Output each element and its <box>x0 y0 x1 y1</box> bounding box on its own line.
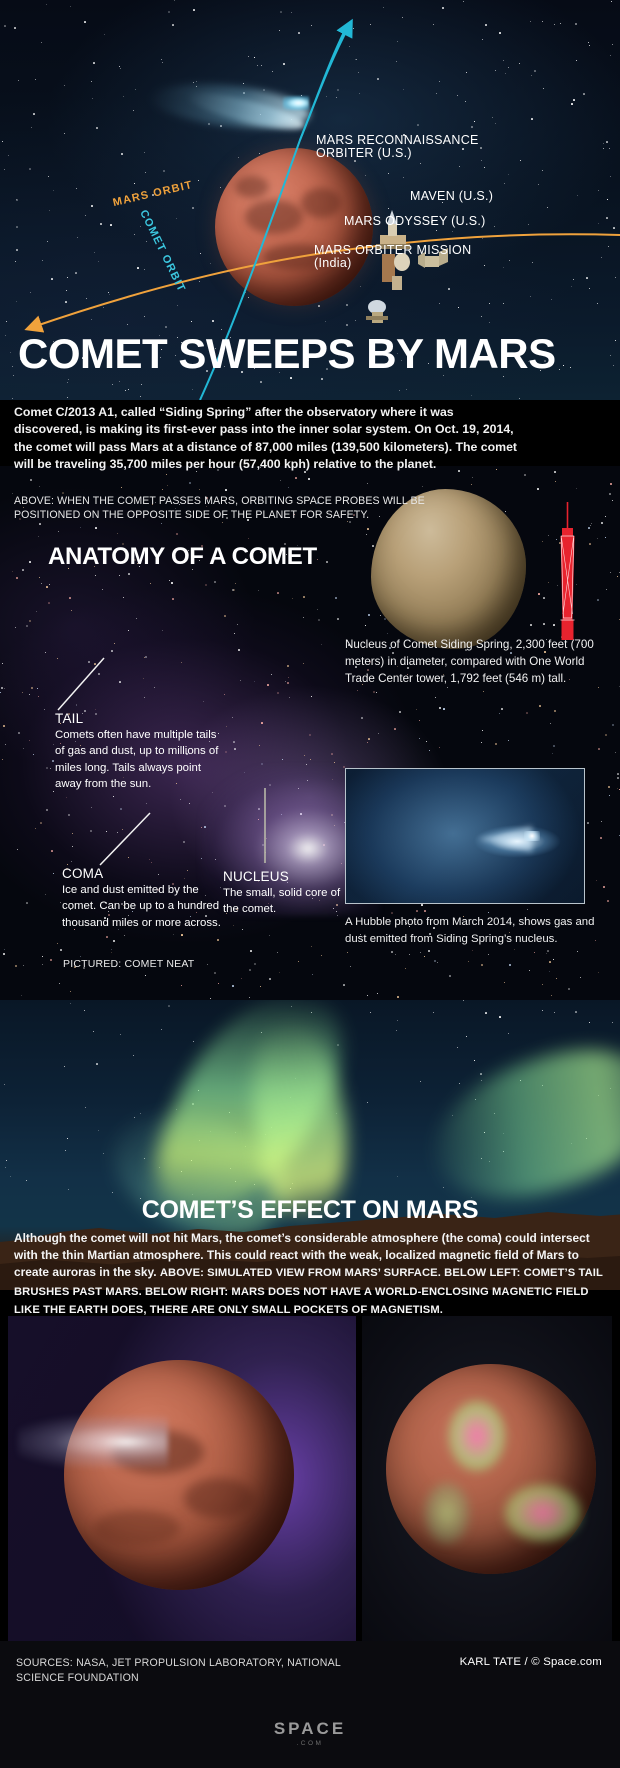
probe-label-mro: MARS RECONNAISSANCE ORBITER (U.S.) <box>316 134 479 160</box>
callout-tail-body: Comets often have multiple tails of gas … <box>55 727 220 793</box>
callout-coma-heading: COMA <box>62 866 232 881</box>
callout-nucleus: NUCLEUS The small, solid core of the com… <box>223 869 343 918</box>
probe-label-mom: MARS ORBITER MISSION (India) <box>314 244 471 270</box>
aurora-band-right <box>416 1028 620 1223</box>
probe-label-mro-line1: MARS RECONNAISSANCE <box>316 133 479 147</box>
credit-text: KARL TATE / © Space.com <box>460 1656 602 1668</box>
probe-label-maven-line1: MAVEN (U.S.) <box>410 189 493 203</box>
callout-nucleus-body: The small, solid core of the comet. <box>223 885 343 918</box>
anatomy-section: ANATOMY OF A COMET Nucleus of Comet Sidi… <box>0 466 620 1000</box>
infographic-page: MARS ORBIT COMET ORBIT <box>0 0 620 1768</box>
mars-planet-left-photo <box>64 1360 294 1590</box>
probe-label-odyssey-line1: MARS ODYSSEY (U.S.) <box>344 214 486 228</box>
page-title: COMET SWEEPS BY MARS <box>18 330 556 378</box>
above-caption: ABOVE: WHEN THE COMET PASSES MARS, ORBIT… <box>14 494 434 523</box>
photo-comet-tail-past-mars <box>8 1316 356 1641</box>
magnetic-pocket-c <box>424 1482 470 1544</box>
mars-orbiter-mission-icon <box>366 300 388 323</box>
probe-label-mom-line2: (India) <box>314 257 471 270</box>
pictured-note: PICTURED: COMET NEAT <box>63 958 194 970</box>
intro-paragraph: Comet C/2013 A1, called “Siding Spring” … <box>14 404 524 473</box>
bottom-photo-row <box>0 1316 620 1641</box>
mars-planet-right-photo <box>386 1364 596 1574</box>
callout-tail: TAIL Comets often have multiple tails of… <box>55 711 220 793</box>
probe-label-odyssey: MARS ODYSSEY (U.S.) <box>344 215 486 228</box>
brand-logo[interactable]: SPACE .COM <box>0 1719 620 1747</box>
callout-tail-heading: TAIL <box>55 711 220 726</box>
footer: SOURCES: NASA, JET PROPULSION LABORATORY… <box>0 1641 620 1768</box>
comet-tail-brush-graphic <box>18 1416 168 1468</box>
photo-mars-magnetic-pockets <box>362 1316 612 1641</box>
effect-heading: COMET’S EFFECT ON MARS <box>0 1196 620 1225</box>
callout-coma: COMA Ice and dust emitted by the comet. … <box>62 866 232 931</box>
probe-label-mro-line2: ORBITER (U.S.) <box>316 147 479 160</box>
brand-domain: .COM <box>0 1740 620 1747</box>
callout-nucleus-heading: NUCLEUS <box>223 869 343 884</box>
brand-name: SPACE <box>0 1719 620 1739</box>
magnetic-pocket-a <box>448 1400 506 1472</box>
magnetic-pocket-b <box>504 1484 582 1542</box>
probe-label-mom-line1: MARS ORBITER MISSION <box>314 243 471 257</box>
sources-text: SOURCES: NASA, JET PROPULSION LABORATORY… <box>16 1656 356 1686</box>
effect-body: Although the comet will not hit Mars, th… <box>14 1230 608 1319</box>
callout-coma-body: Ice and dust emitted by the comet. Can b… <box>62 882 232 931</box>
probe-label-maven: MAVEN (U.S.) <box>410 190 493 203</box>
